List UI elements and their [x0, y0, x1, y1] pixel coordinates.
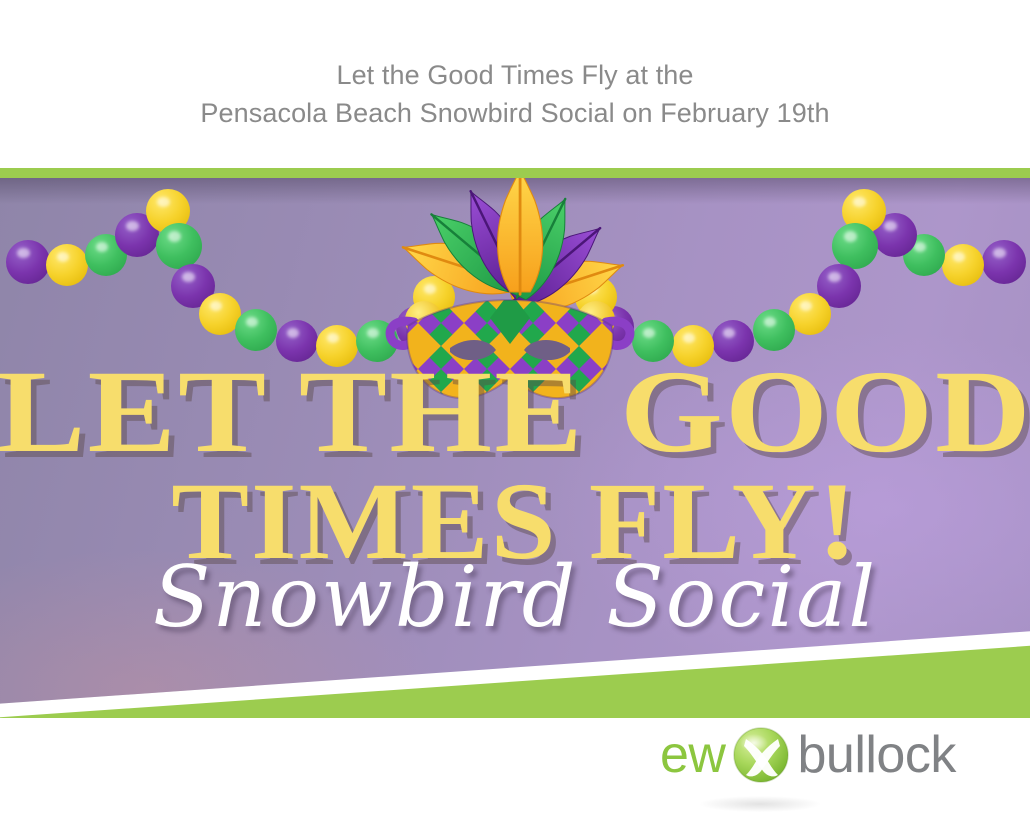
- bead: [156, 223, 202, 269]
- bead: [753, 309, 795, 351]
- bead: [6, 240, 50, 284]
- banner-top-green-rule: [0, 168, 1030, 178]
- page-heading: Let the Good Times Fly at the Pensacola …: [0, 0, 1030, 168]
- green-sphere-x-icon: [733, 727, 789, 783]
- bead: [46, 244, 88, 286]
- bead: [712, 320, 754, 362]
- logo-text-bullock: bullock: [797, 729, 955, 781]
- heading-line-1: Let the Good Times Fly at the: [336, 56, 693, 94]
- bead: [672, 325, 714, 367]
- bead: [982, 240, 1026, 284]
- bead: [276, 320, 318, 362]
- bead: [942, 244, 984, 286]
- ew-bullock-logo[interactable]: ew bullock: [660, 722, 956, 788]
- mardi-gras-mask-icon: [376, 172, 644, 402]
- bead: [832, 223, 878, 269]
- logo-text-ew: ew: [660, 729, 725, 781]
- heading-line-2: Pensacola Beach Snowbird Social on Febru…: [200, 94, 829, 132]
- bead: [316, 325, 358, 367]
- footer-area: ew bullock: [0, 700, 1030, 813]
- bead: [235, 309, 277, 351]
- logo-drop-shadow: [700, 796, 820, 812]
- bead: [789, 293, 831, 335]
